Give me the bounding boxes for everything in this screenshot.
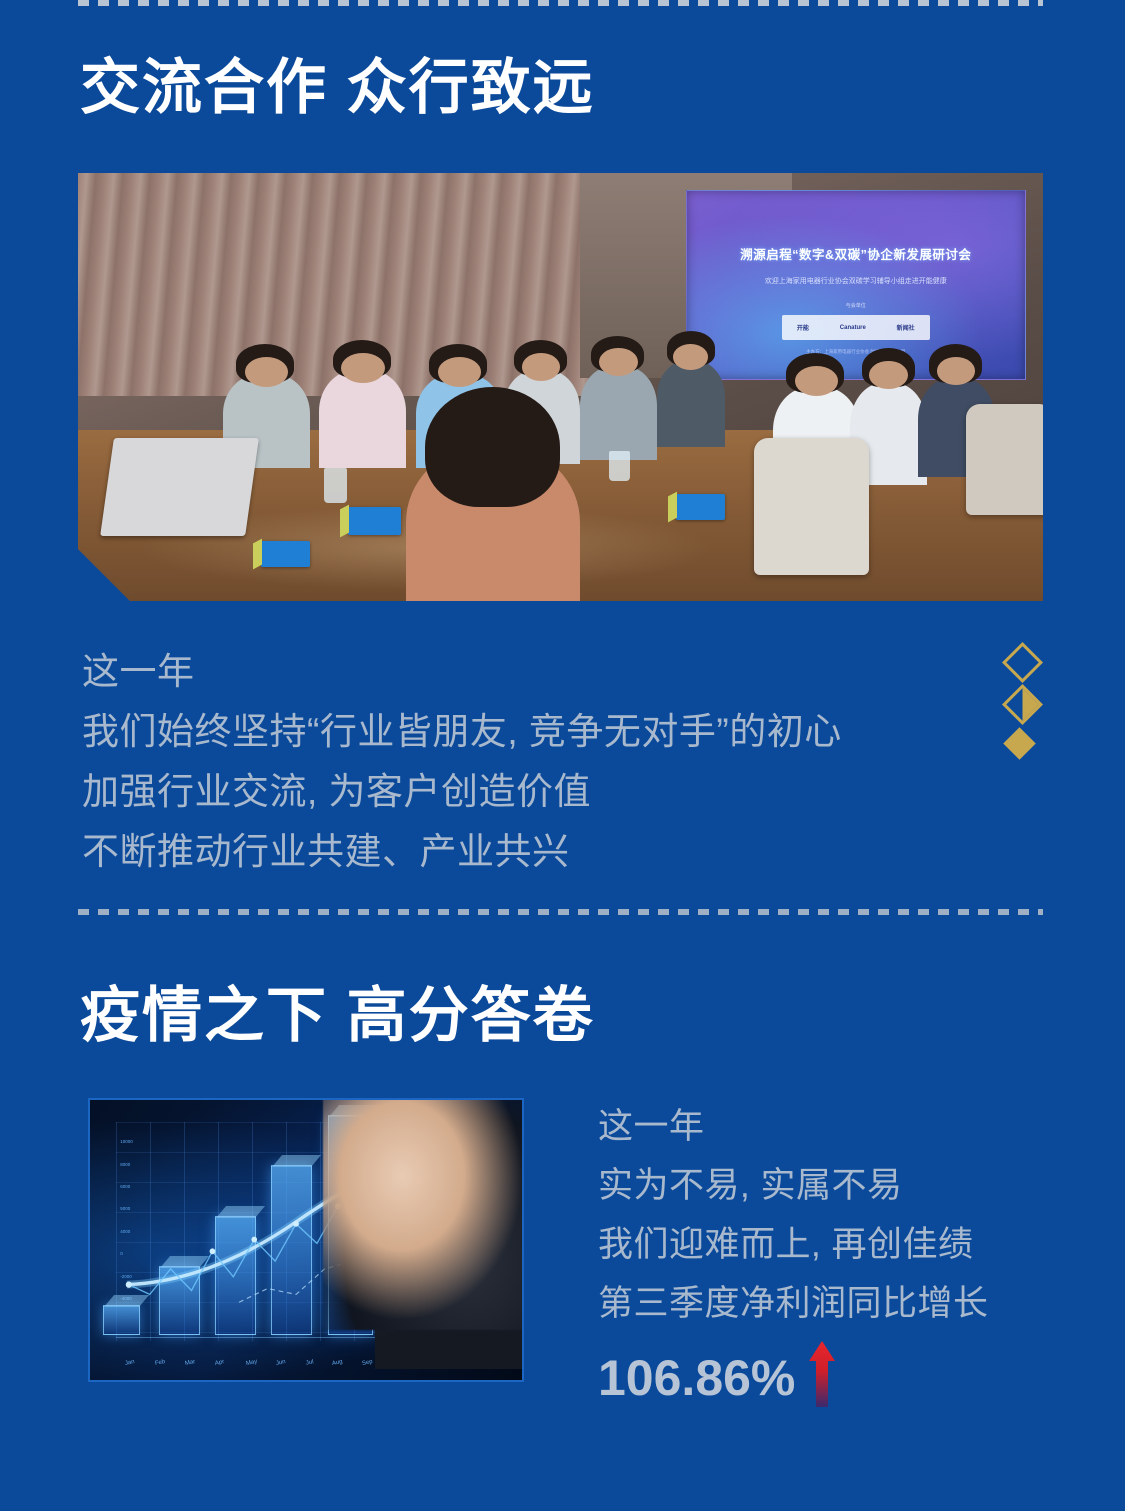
up-arrow-icon (809, 1341, 835, 1407)
copy-line: 这一年 (598, 1097, 1068, 1156)
top-dashed-divider (78, 0, 1043, 6)
attendee-head (795, 366, 838, 396)
attendee (580, 366, 657, 460)
copy-block-exchange-cooperation: 这一年 我们始终坚持“行业皆朋友, 竞争无对手”的初心 加强行业交流, 为客户创… (82, 642, 962, 882)
middle-dashed-divider (78, 909, 1043, 915)
foreground-attendee-hair (425, 387, 560, 507)
copy-line: 加强行业交流, 为客户创造价值 (82, 762, 962, 822)
attendee-head (937, 357, 976, 385)
copy-line: 这一年 (82, 642, 962, 702)
copy-line: 实为不易, 实属不易 (598, 1156, 1068, 1215)
x-tick-label: Apr (215, 1359, 225, 1367)
water-glass (609, 451, 630, 481)
attendee-head (673, 344, 708, 370)
diamond-decoration-group (1004, 648, 1040, 772)
diamond-half-icon (1002, 684, 1043, 725)
laptop (100, 438, 259, 536)
copy-line: 不断推动行业共建、产业共兴 (82, 822, 962, 882)
meeting-photo: 溯源启程“数字&双碳”协企新发展研讨会 欢迎上海家用电器行业协会双碳学习辅导小组… (78, 173, 1043, 601)
water-glass (324, 468, 347, 502)
copy-line: 第三季度净利润同比增长 (598, 1274, 1068, 1333)
y-tick-label: 0 (120, 1251, 123, 1256)
screen-logo-strip: 开能 Canature 新闻社 (782, 315, 931, 339)
name-card (676, 494, 724, 520)
x-tick-label: Mar (185, 1359, 196, 1367)
y-tick-label: 8000 (120, 1162, 130, 1167)
growth-chart-photo-content: 10000 8000 6000 5000 4000 0 -2000 -4000 … (90, 1100, 522, 1380)
screen-logo-2: Canature (840, 325, 866, 331)
meeting-photo-content: 溯源启程“数字&双碳”协企新发展研讨会 欢迎上海家用电器行业协会双碳学习辅导小组… (78, 173, 1043, 601)
screen-subtitle: 欢迎上海家用电器行业协会双碳学习辅导小组走进开能健康 (700, 276, 1011, 286)
x-tick-label: Jun (275, 1359, 286, 1367)
screen-title: 溯源启程“数字&双碳”协企新发展研讨会 (700, 244, 1011, 263)
name-card (261, 541, 309, 567)
metric-row: 106.86% (598, 1337, 1068, 1403)
section-heading-exchange-cooperation: 交流合作 众行致远 (80, 56, 595, 119)
x-tick-label: Jul (305, 1359, 314, 1366)
growth-percentage: 106.86% (598, 1353, 795, 1403)
x-tick-label: Jan (124, 1359, 135, 1367)
growth-chart-photo: 10000 8000 6000 5000 4000 0 -2000 -4000 … (88, 1098, 524, 1382)
attendee-head (599, 348, 638, 376)
attendee-head (522, 353, 561, 381)
x-tick-label: Aug (331, 1359, 343, 1367)
section-heading-pandemic-high-score: 疫情之下 高分答卷 (80, 984, 595, 1047)
office-chair (754, 438, 870, 575)
diamond-outline-icon (1002, 642, 1043, 683)
copy-line: 我们始终坚持“行业皆朋友, 竞争无对手”的初心 (82, 702, 962, 762)
y-tick-label: 10000 (120, 1139, 133, 1144)
attendee-head (341, 353, 384, 383)
x-tick-label: May (245, 1359, 257, 1367)
infographic-page: 交流合作 众行致远 溯源启程“数字&双碳”协企新发展研讨会 欢迎上海家用电器行业… (0, 0, 1125, 1511)
copy-block-pandemic-high-score: 这一年 实为不易, 实属不易 我们迎难而上, 再创佳绩 第三季度净利润同比增长 … (598, 1097, 1068, 1403)
x-tick-label: Feb (154, 1359, 165, 1367)
attendee (319, 370, 406, 468)
attendee-head (869, 361, 908, 389)
screen-host-label: 与会单位 (687, 302, 1025, 309)
x-tick-label: Sep (362, 1359, 374, 1367)
name-card (348, 507, 401, 535)
copy-line: 我们迎难而上, 再创佳绩 (598, 1215, 1068, 1274)
attendee (657, 361, 725, 447)
hand-drawing-chart (323, 1098, 524, 1330)
office-chair (966, 404, 1043, 515)
screen-logo-1: 开能 (797, 323, 809, 332)
screen-logo-3: 新闻社 (897, 323, 915, 332)
attendee-head (438, 357, 481, 387)
attendee-head (245, 357, 288, 387)
diamond-solid-icon (1003, 727, 1036, 760)
